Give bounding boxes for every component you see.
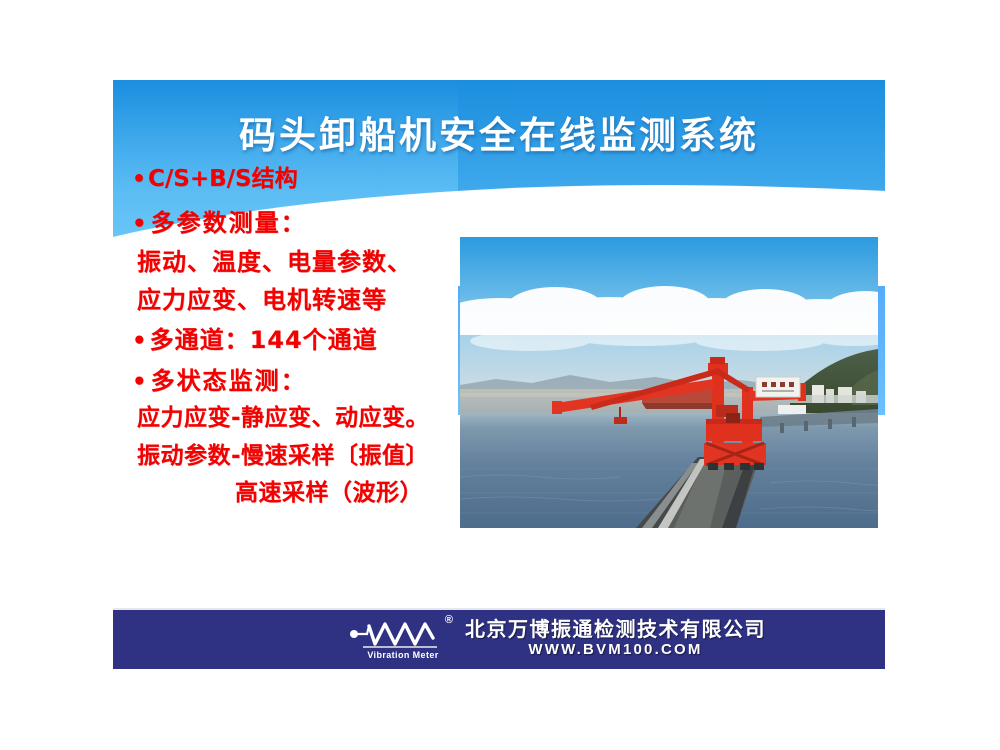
list-item: 应力应变-静应变、动应变。: [125, 407, 475, 430]
slide-title: 码头卸船机安全在线监测系统: [113, 105, 885, 159]
list-item: 高速采样（波形）: [125, 482, 475, 505]
registered-trademark-icon: ®: [445, 614, 453, 626]
list-item: C/S+B/S结构: [125, 168, 475, 191]
company-name: 北京万博振通检测技术有限公司: [465, 618, 766, 640]
list-item: 振动参数-慢速采样〔振值〕: [125, 445, 475, 468]
list-item: 振动、温度、电量参数、: [125, 250, 475, 274]
footer-text-block: 北京万博振通检测技术有限公司 WWW.BVM100.COM: [465, 618, 766, 661]
company-website: WWW.BVM100.COM: [528, 641, 702, 659]
presentation-slide: 码头卸船机安全在线监测系统 C/S+B/S结构 多参数测量： 振动、温度、电量参…: [113, 80, 885, 669]
list-item: 多状态监测：: [125, 369, 475, 394]
vibration-meter-logo: ® Vibration Meter: [345, 614, 455, 664]
bullet-list: C/S+B/S结构 多参数测量： 振动、温度、电量参数、 应力应变、电机转速等 …: [125, 168, 475, 505]
blue-light-strip: [458, 198, 885, 240]
port-ship-unloader-photo: [460, 237, 878, 528]
list-item: 多参数测量：: [125, 211, 475, 236]
logo-subtitle: Vibration Meter: [351, 650, 455, 660]
footer-content: ® Vibration Meter 北京万博振通检测技术有限公司 WWW.BVM…: [345, 614, 766, 664]
list-item: 应力应变、电机转速等: [125, 288, 475, 312]
list-item: 多通道：144个通道: [125, 328, 475, 353]
footer-bar: ® Vibration Meter 北京万博振通检测技术有限公司 WWW.BVM…: [113, 608, 885, 669]
